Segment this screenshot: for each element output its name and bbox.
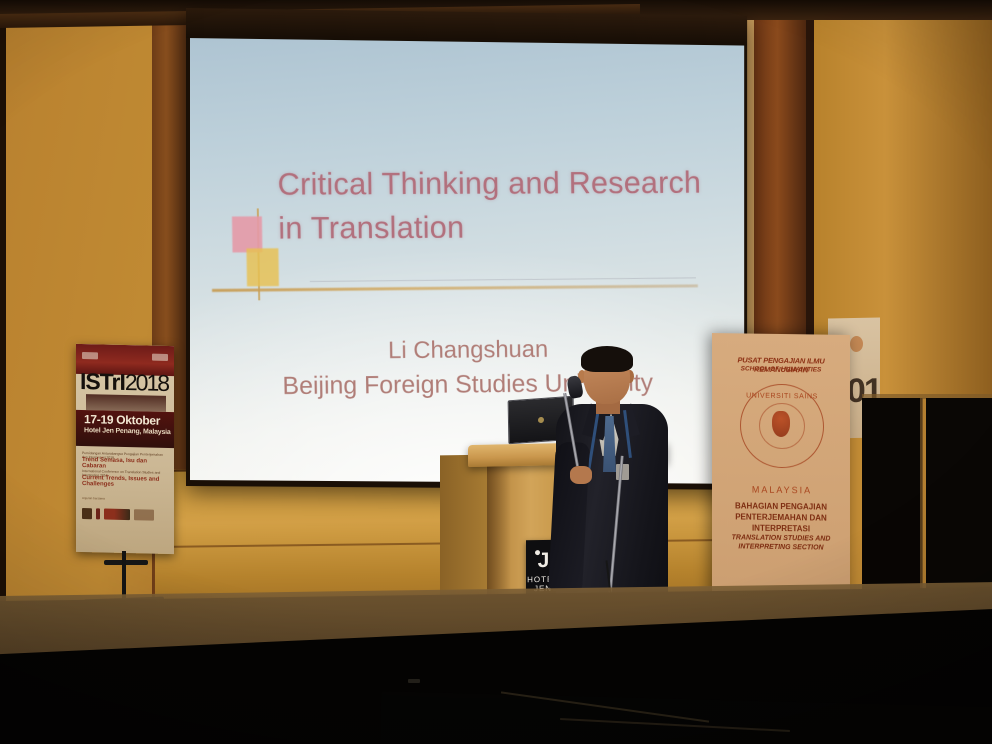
- banner-sponsor-logos: [82, 506, 168, 522]
- banner-event-name: ISTrI2018: [80, 368, 172, 397]
- background-banner-seal: [850, 336, 863, 352]
- banner-footnote: Anjuran bersama: [82, 496, 105, 501]
- sponsor-logo-mark: [96, 508, 100, 519]
- slide-rule: [212, 284, 698, 292]
- sponsor-logo-extra: [134, 509, 154, 520]
- usm-seal-top-text: UNIVERSITI SAINS: [741, 392, 823, 400]
- banner-section-ms: BAHAGIAN PENGAJIAN PENTERJEMAHAN DAN INT…: [716, 501, 846, 535]
- sponsor-logo-crest: [82, 508, 92, 519]
- usm-seal: UNIVERSITI SAINS MALAYSIA: [740, 383, 824, 468]
- usm-seal-bottom-text: MALAYSIA: [713, 484, 850, 496]
- slide-title: Critical Thinking and Research in Transl…: [277, 161, 734, 251]
- banner-stand-cap: [104, 560, 148, 565]
- banner-event-acronym: ISTrI: [80, 368, 125, 395]
- foreground-highlight: [408, 679, 420, 683]
- usm-crest-icon: [772, 411, 790, 437]
- banner-section-en: TRANSLATION STUDIES AND INTERPRETING SEC…: [718, 533, 844, 554]
- banner-dates: 17-19 Oktober: [84, 412, 160, 428]
- decoration-pink-square: [232, 216, 262, 252]
- conference-photo: Critical Thinking and Research in Transl…: [0, 0, 992, 744]
- banner-logo-mark: [82, 352, 98, 359]
- banner-logo-mark: [152, 353, 168, 360]
- speaker-hand: [570, 466, 592, 484]
- banner-theme-en: Current Trends, Issues and Challenges: [82, 475, 168, 489]
- banner-event-year: 2018: [125, 369, 168, 396]
- speaker-hair: [581, 346, 633, 372]
- laptop-logo-icon: [538, 417, 544, 423]
- decoration-gold-square: [246, 248, 279, 286]
- slide-title-line1: Critical Thinking and Research: [277, 161, 733, 207]
- left-rollup-banner: ISTrI2018 17-19 Oktober Hotel Jen Penang…: [76, 344, 174, 554]
- slide-rule-thin: [310, 277, 696, 282]
- banner-top-logos: [82, 350, 168, 362]
- banner-subtitle-block: [86, 394, 166, 412]
- sponsor-logo-wordmark: [104, 508, 130, 520]
- slide-title-line2: in Translation: [278, 204, 734, 250]
